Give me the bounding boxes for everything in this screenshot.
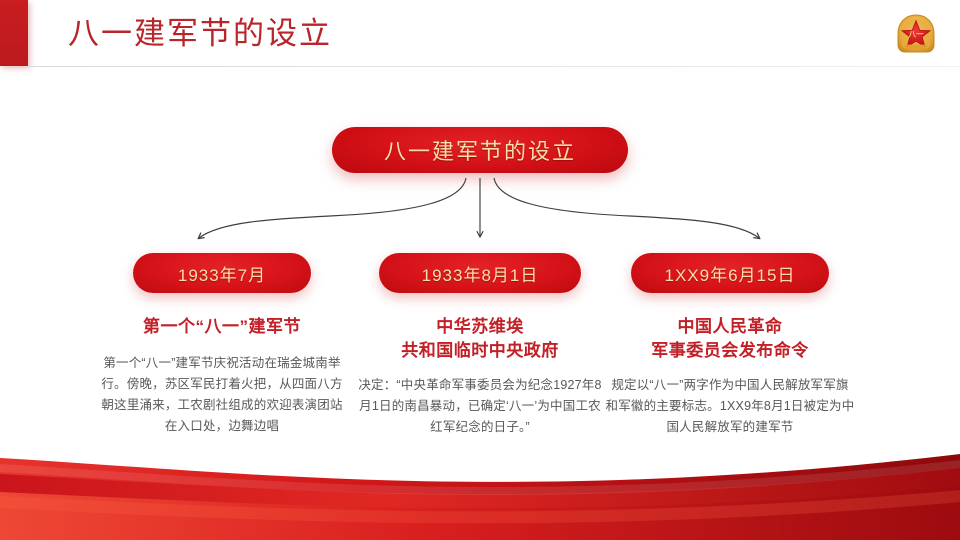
column-body-text: 第一个“八一”建军节庆祝活动在瑞金城南举行。傍晚，苏区军民打着火把，从四面八方朝…: [97, 353, 347, 437]
date-pill-label: 1XX9年6月15日: [665, 261, 796, 286]
root-node[interactable]: 八一建军节的设立: [332, 127, 628, 173]
date-pill[interactable]: 1933年7月: [133, 253, 311, 293]
column-heading: 中华苏维埃 共和国临时中央政府: [355, 315, 605, 363]
column-heading: 中国人民革命 军事委员会发布命令: [605, 315, 855, 363]
column-heading-line1: 第一个“八一”建军节: [97, 315, 347, 339]
column-heading-line2: 军事委员会发布命令: [605, 339, 855, 363]
root-node-label: 八一建军节的设立: [384, 134, 576, 166]
column-body-text: 决定：“中央革命军事委员会为纪念1927年8月1日的南昌暴动，已确定‘八一’为中…: [355, 375, 605, 438]
pla-army-emblem-icon: 八一: [894, 12, 938, 56]
date-pill-label: 1933年8月1日: [422, 261, 539, 286]
connector-right: [494, 178, 759, 238]
column-heading-line1: 中国人民革命: [605, 315, 855, 339]
column-heading-line2: 共和国临时中央政府: [355, 339, 605, 363]
timeline-column: 1XX9年6月15日 中国人民革命 军事委员会发布命令 规定以“八一”两字作为中…: [605, 253, 855, 438]
column-heading-line1: 中华苏维埃: [355, 315, 605, 339]
timeline-column: 1933年7月 第一个“八一”建军节 第一个“八一”建军节庆祝活动在瑞金城南举行…: [97, 253, 347, 437]
column-body-text: 规定以“八一”两字作为中国人民解放军军旗和军徽的主要标志。1XX9年8月1日被定…: [605, 375, 855, 438]
header-divider: [28, 66, 960, 67]
connector-left: [199, 178, 466, 238]
timeline-column: 1933年8月1日 中华苏维埃 共和国临时中央政府 决定：“中央革命军事委员会为…: [355, 253, 605, 438]
column-heading: 第一个“八一”建军节: [97, 315, 347, 339]
date-pill-label: 1933年7月: [178, 261, 266, 286]
svg-text:八一: 八一: [908, 30, 924, 39]
page-title: 八一建军节的设立: [68, 10, 332, 58]
slide-header: 八一建军节的设立: [0, 0, 960, 68]
date-pill[interactable]: 1XX9年6月15日: [631, 253, 829, 293]
date-pill[interactable]: 1933年8月1日: [379, 253, 581, 293]
header-accent-block: [0, 0, 28, 66]
slide-canvas: 八一建军节的设立: [0, 0, 960, 540]
